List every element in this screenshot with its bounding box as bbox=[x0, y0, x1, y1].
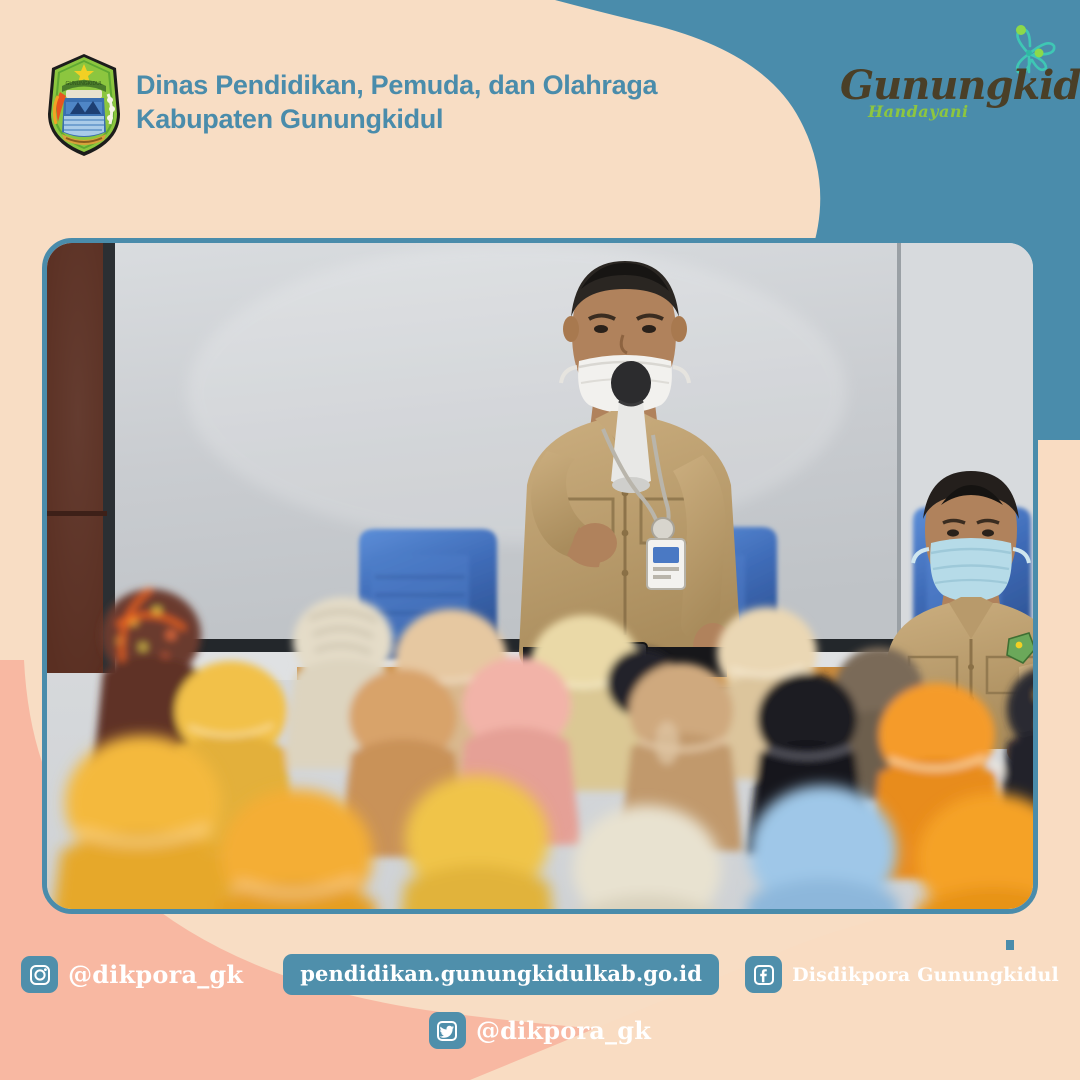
header: GUNUNGKIDUL Dinas Pendidikan, Pemuda, da… bbox=[0, 0, 1080, 200]
brand-logo: Gunungkidul Handayani bbox=[836, 22, 1066, 132]
title-line-1: Dinas Pendidikan, Pemuda, dan Olahraga bbox=[136, 68, 657, 102]
twitter-handle: @dikpora_gk bbox=[476, 1016, 651, 1045]
facebook-icon[interactable] bbox=[745, 956, 782, 993]
photo-card bbox=[42, 238, 1038, 914]
gunungkidul-coat-of-arms-icon: GUNUNGKIDUL bbox=[42, 52, 126, 158]
instagram-icon[interactable] bbox=[21, 956, 58, 993]
facebook-name: Disdikpora Gunungkidul bbox=[792, 964, 1059, 986]
event-photograph bbox=[47, 243, 1033, 909]
instagram-handle: @dikpora_gk bbox=[68, 960, 243, 989]
footer-row-secondary: @dikpora_gk bbox=[0, 1012, 1080, 1049]
facebook-link[interactable]: Disdikpora Gunungkidul bbox=[745, 956, 1059, 993]
footer-row-primary: @dikpora_gk pendidikan.gunungkidulkab.go… bbox=[0, 954, 1080, 995]
brand-tagline: Handayani bbox=[868, 102, 969, 121]
footer-social-bar: @dikpora_gk pendidikan.gunungkidulkab.go… bbox=[0, 940, 1080, 1080]
title-line-2: Kabupaten Gunungkidul bbox=[136, 102, 657, 136]
twitter-link[interactable]: @dikpora_gk bbox=[429, 1012, 651, 1049]
page-title: Dinas Pendidikan, Pemuda, dan Olahraga K… bbox=[136, 68, 657, 136]
website-url-badge[interactable]: pendidikan.gunungkidulkab.go.id bbox=[283, 954, 719, 995]
instagram-link[interactable]: @dikpora_gk bbox=[21, 956, 243, 993]
svg-text:GUNUNGKIDUL: GUNUNGKIDUL bbox=[66, 81, 103, 87]
twitter-icon[interactable] bbox=[429, 1012, 466, 1049]
